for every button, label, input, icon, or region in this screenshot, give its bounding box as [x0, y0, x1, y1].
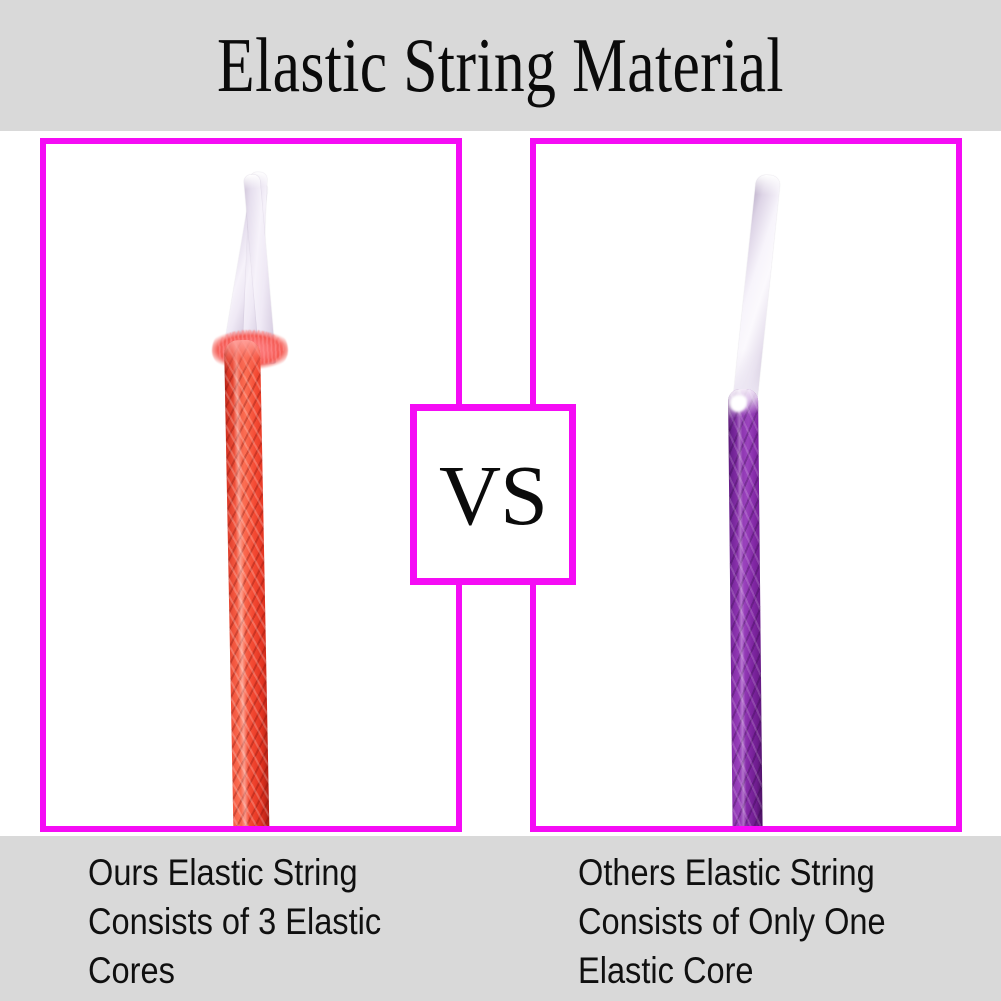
panel-ours — [40, 138, 462, 832]
caption-ours-line-2: Consists of 3 Elastic — [88, 897, 458, 946]
caption-others-line-1: Others Elastic String — [578, 848, 965, 897]
cord-neck-blend — [224, 340, 261, 375]
vs-label: VS — [439, 452, 547, 538]
caption-others-line-2: Consists of Only One — [578, 897, 965, 946]
caption-band: Ours Elastic String Consists of 3 Elasti… — [0, 836, 1001, 1001]
core-tip-icon — [755, 174, 781, 196]
panel-others — [530, 138, 962, 832]
vs-badge: VS — [410, 404, 576, 585]
caption-ours-line-3: Cores — [88, 946, 458, 995]
others-cord-illustration — [536, 144, 956, 826]
red-braided-cord — [224, 340, 270, 826]
panel-others-content — [536, 144, 956, 826]
caption-others-line-3: Elastic Core — [578, 946, 965, 995]
page-title: Elastic String Material — [100, 17, 901, 113]
purple-braided-cord — [728, 389, 763, 826]
ours-cord-illustration — [46, 144, 456, 826]
core-tip-icon — [243, 174, 260, 189]
header-band: Elastic String Material — [0, 0, 1001, 131]
caption-ours: Ours Elastic String Consists of 3 Elasti… — [88, 848, 458, 995]
panel-ours-content — [46, 144, 456, 826]
comparison-infographic: Elastic String Material — [0, 0, 1001, 1001]
caption-ours-line-1: Ours Elastic String — [88, 848, 458, 897]
elastic-core-single — [732, 174, 781, 411]
caption-others: Others Elastic String Consists of Only O… — [578, 848, 965, 995]
